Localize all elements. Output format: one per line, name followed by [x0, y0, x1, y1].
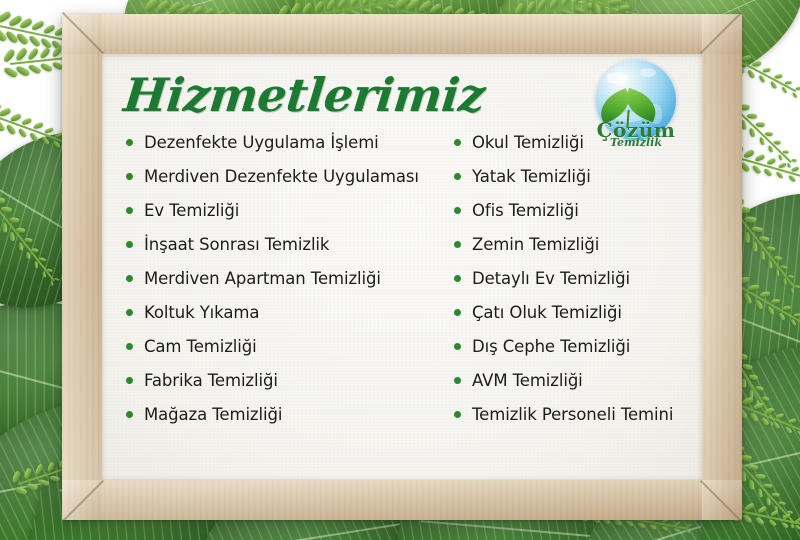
- service-item-label: Zemin Temizliği: [472, 235, 599, 254]
- page-title: Hizmetlerimiz: [122, 72, 487, 118]
- service-item: Zemin Temizliği: [454, 228, 702, 260]
- bullet-dot-icon: [126, 139, 133, 146]
- poster-image: Hizmetlerimiz Çözüm Temizlik Dezenfekte …: [0, 0, 800, 540]
- bullet-dot-icon: [126, 173, 133, 180]
- bullet-dot-icon: [126, 241, 133, 248]
- service-item-label: Okul Temizliği: [472, 133, 584, 152]
- frame-miter-top-right: [700, 12, 742, 54]
- service-item-label: Merdiven Apartman Temizliği: [144, 269, 381, 288]
- bullet-dot-icon: [454, 241, 461, 248]
- service-item: Okul Temizliği: [454, 126, 702, 158]
- service-item: Fabrika Temizliği: [126, 364, 456, 396]
- service-item-label: Dezenfekte Uygulama İşlemi: [144, 133, 379, 152]
- frame-miter-bottom-left: [62, 480, 104, 522]
- service-item: Ev Temizliği: [126, 194, 456, 226]
- service-item: Yatak Temizliği: [454, 160, 702, 192]
- bullet-dot-icon: [126, 377, 133, 384]
- service-item-label: Koltuk Yıkama: [144, 303, 259, 322]
- bullet-dot-icon: [126, 207, 133, 214]
- service-item-label: Yatak Temizliği: [472, 167, 591, 186]
- bullet-dot-icon: [454, 139, 461, 146]
- poster-paper: Hizmetlerimiz Çözüm Temizlik Dezenfekte …: [102, 54, 702, 480]
- bullet-dot-icon: [454, 207, 461, 214]
- bullet-dot-icon: [126, 343, 133, 350]
- service-item: AVM Temizliği: [454, 364, 702, 396]
- service-item: Mağaza Temizliği: [126, 398, 456, 430]
- frame-rail-bottom: [62, 480, 742, 520]
- service-item: Koltuk Yıkama: [126, 296, 456, 328]
- service-item: Detaylı Ev Temizliği: [454, 262, 702, 294]
- service-item: Merdiven Apartman Temizliği: [126, 262, 456, 294]
- service-list-left: Dezenfekte Uygulama İşlemiMerdiven Dezen…: [126, 126, 456, 432]
- bullet-dot-icon: [454, 343, 461, 350]
- bullet-dot-icon: [454, 275, 461, 282]
- service-item-label: Temizlik Personeli Temini: [472, 405, 673, 424]
- frame-rail-top: [62, 14, 742, 54]
- bullet-dot-icon: [126, 275, 133, 282]
- bullet-dot-icon: [454, 173, 461, 180]
- service-item-label: İnşaat Sonrası Temizlik: [144, 235, 329, 254]
- service-item: Çatı Oluk Temizliği: [454, 296, 702, 328]
- bullet-dot-icon: [454, 411, 461, 418]
- service-item-label: Detaylı Ev Temizliği: [472, 269, 630, 288]
- bullet-dot-icon: [454, 309, 461, 316]
- frame-miter-bottom-right: [700, 480, 742, 522]
- service-item-label: Çatı Oluk Temizliği: [472, 303, 622, 322]
- service-item-label: Cam Temizliği: [144, 337, 257, 356]
- service-item-label: Ev Temizliği: [144, 201, 239, 220]
- frame-miter-top-left: [62, 12, 104, 54]
- bullet-dot-icon: [454, 377, 461, 384]
- service-item-label: Fabrika Temizliği: [144, 371, 278, 390]
- service-item: Dezenfekte Uygulama İşlemi: [126, 126, 456, 158]
- service-list-right: Okul TemizliğiYatak TemizliğiOfis Temizl…: [454, 126, 702, 432]
- frame-rail-left: [62, 14, 102, 520]
- service-item-label: Merdiven Dezenfekte Uygulaması: [144, 167, 419, 186]
- service-item-label: AVM Temizliği: [472, 371, 583, 390]
- bullet-dot-icon: [126, 411, 133, 418]
- service-item-label: Ofis Temizliği: [472, 201, 579, 220]
- bullet-dot-icon: [126, 309, 133, 316]
- service-item: Ofis Temizliği: [454, 194, 702, 226]
- service-item-label: Mağaza Temizliği: [144, 405, 282, 424]
- service-item: İnşaat Sonrası Temizlik: [126, 228, 456, 260]
- service-item: Cam Temizliği: [126, 330, 456, 362]
- frame-rail-right: [702, 14, 742, 520]
- service-item-label: Dış Cephe Temizliği: [472, 337, 630, 356]
- service-item: Dış Cephe Temizliği: [454, 330, 702, 362]
- service-item: Merdiven Dezenfekte Uygulaması: [126, 160, 456, 192]
- service-item: Temizlik Personeli Temini: [454, 398, 702, 430]
- wooden-picture-frame: Hizmetlerimiz Çözüm Temizlik Dezenfekte …: [62, 14, 742, 520]
